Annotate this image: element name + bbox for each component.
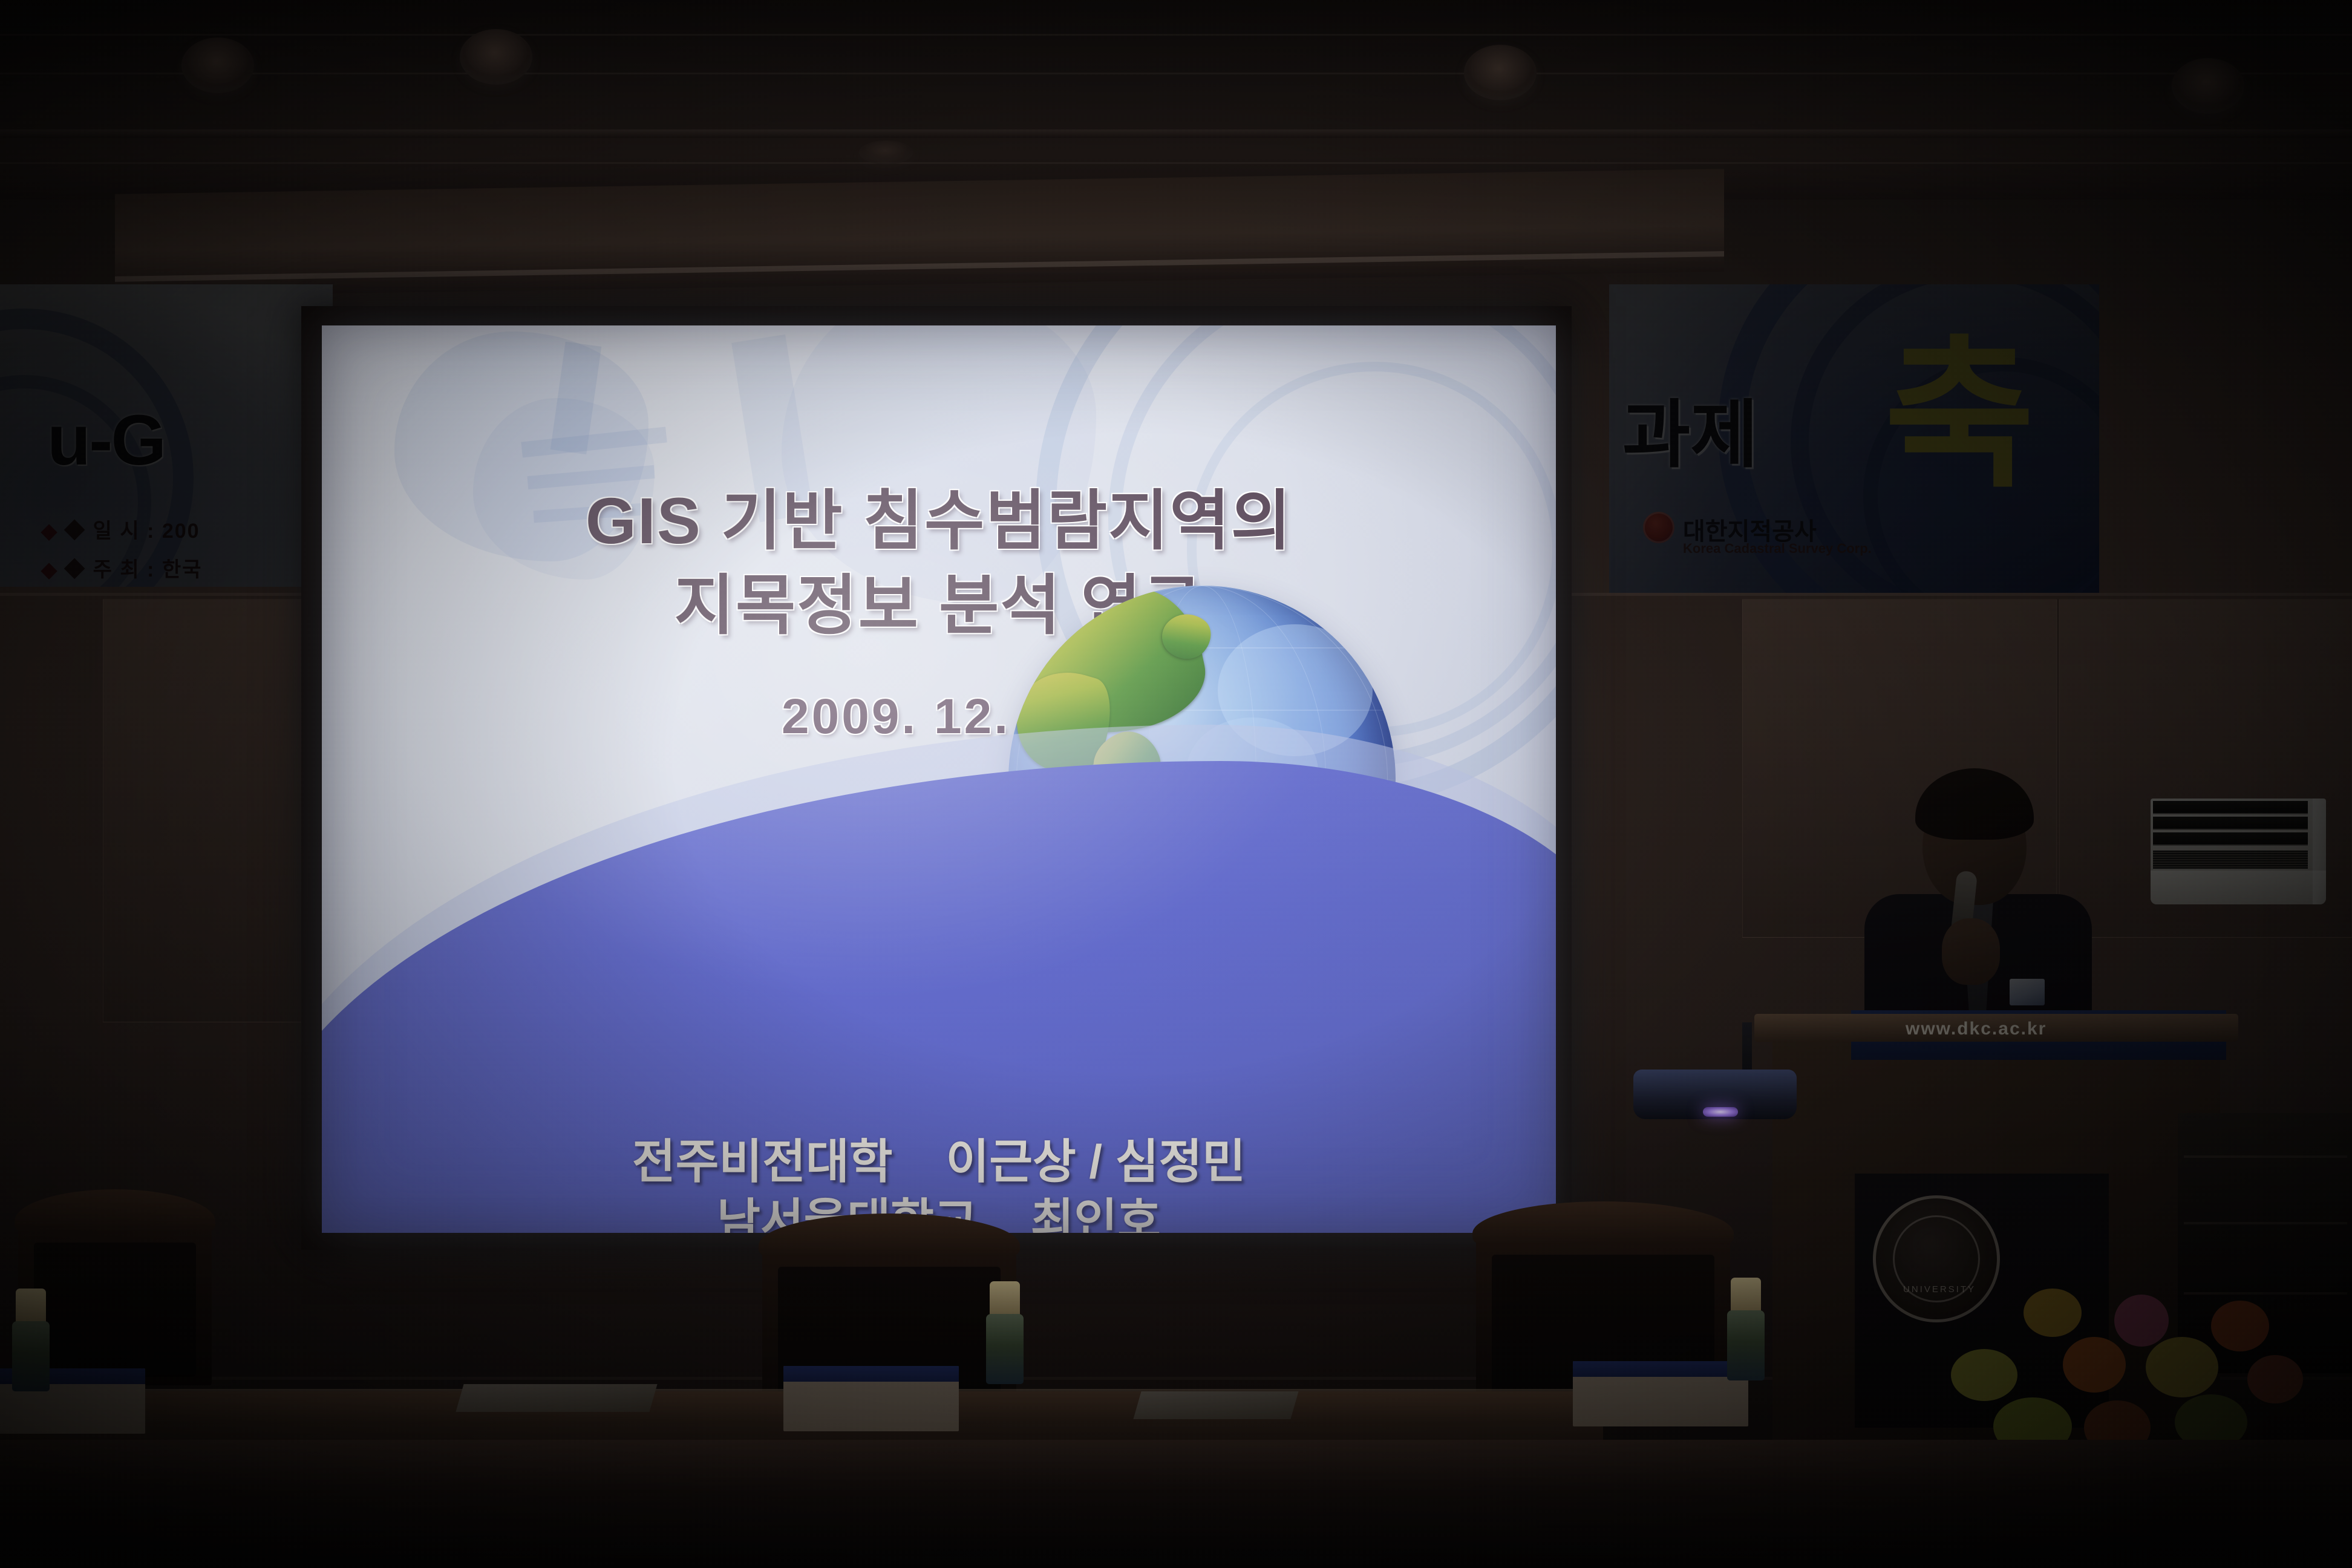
banner-left-date-row: ◆◆ 일 시 : 200 — [41, 514, 200, 544]
banner-left: u-G ◆◆ 일 시 : 200 ◆◆ 주 최 : 한국 — [0, 284, 333, 587]
banner-left-date-label: ◆ 일 시 : — [64, 520, 155, 543]
slide-title-line-1: GIS 기반 침수범람지역의 — [322, 468, 1556, 563]
floral-arrangement — [1933, 1258, 2320, 1458]
desk-microphone-icon — [635, 1379, 656, 1435]
projection-screen: GIS 기반 침수범람지역의 지목정보 분석 연구 2009. 12. 5 — [322, 325, 1556, 1233]
podium-url-text: www.dkc.ac.kr — [1906, 1019, 2047, 1039]
banner-left-date-value: 200 — [162, 520, 200, 543]
diamond-bullet-icon: ◆ — [41, 520, 58, 543]
ceiling-downlight-icon — [1464, 45, 1537, 100]
credit-org-1: 전주비전대학 — [632, 1135, 893, 1188]
papers-on-table — [1133, 1391, 1298, 1419]
banner-right-headline: 과제 — [1622, 375, 1758, 482]
water-bottle — [1727, 1278, 1765, 1380]
speaker-hand — [1942, 918, 2000, 985]
nameplate — [1573, 1361, 1748, 1426]
slide-credit-row-1: 전주비전대학이근상 / 심정민 — [322, 1124, 1556, 1192]
banner-right-celebration-char: 축 — [1884, 339, 2034, 494]
conference-room-photo: u-G ◆◆ 일 시 : 200 ◆◆ 주 최 : 한국 과제 축 대한지적공사… — [0, 0, 2352, 1568]
banner-left-logo: u-G — [47, 399, 165, 482]
banner-left-host-row: ◆◆ 주 최 : 한국 — [41, 553, 202, 583]
projector-lamp-indicator — [1703, 1107, 1738, 1117]
ceiling-downlight-icon — [859, 140, 913, 165]
ceiling-downlight-icon — [2172, 58, 2244, 114]
ceiling-downlight-icon — [181, 38, 254, 93]
ceiling — [0, 0, 2352, 200]
papers-on-table — [456, 1384, 657, 1412]
wall-panel — [103, 599, 302, 1022]
speaker-name-badge — [2010, 979, 2045, 1005]
desk-microphone-icon — [1101, 1385, 1122, 1441]
credit-people-2: 최인호 — [1031, 1194, 1161, 1233]
nameplate — [783, 1366, 959, 1431]
banner-left-host-label: ◆ 주 최 : — [64, 558, 155, 581]
speaker-hair — [1915, 768, 2034, 840]
desk-microphone-icon — [1500, 1383, 1521, 1439]
water-bottle — [986, 1281, 1024, 1384]
banner-left-host-value: 한국 — [162, 558, 203, 581]
ceiling-downlight-icon — [460, 29, 532, 85]
cadastral-corp-logo-icon — [1643, 512, 1674, 543]
banner-right: 과제 축 대한지적공사 Korea Cadastral Survey Corp. — [1609, 284, 2099, 593]
stage-front — [0, 1440, 2352, 1568]
air-conditioner-unit — [2151, 799, 2326, 904]
credit-people-1: 이근상 / 심정민 — [946, 1135, 1246, 1188]
water-bottle — [12, 1289, 50, 1391]
banner-right-sponsor-en: Korea Cadastral Survey Corp. — [1683, 541, 1872, 557]
diamond-bullet-icon: ◆ — [41, 558, 58, 581]
